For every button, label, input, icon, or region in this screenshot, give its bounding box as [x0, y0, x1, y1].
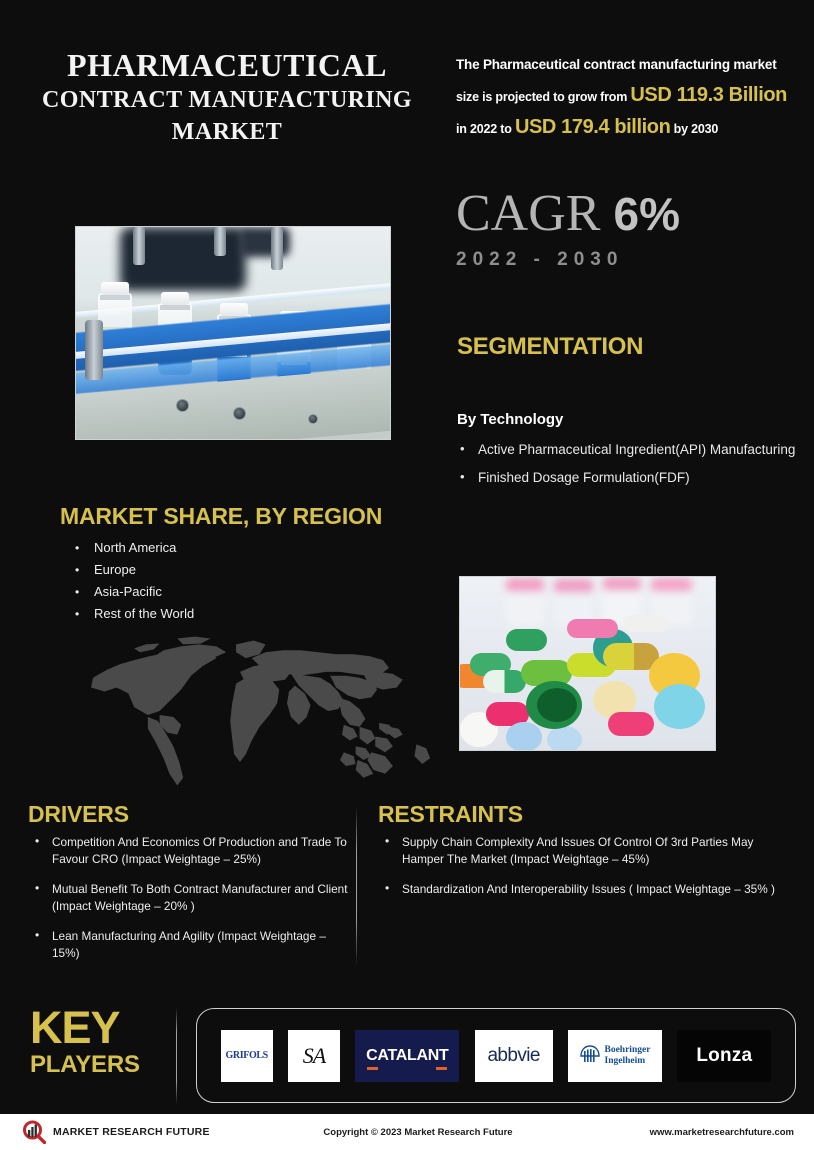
grifols-logo-text: GRIFOLS [226, 1050, 268, 1061]
abbvie-logo: abbvie [475, 1030, 553, 1082]
lonza-logo-text: Lonza [696, 1045, 752, 1067]
cagr-label: CAGR [456, 185, 600, 242]
abbvie-logo-text: abbvie [487, 1045, 539, 1067]
segmentation-subheading: By Technology [457, 411, 563, 428]
key-players-logo-box: GRIFOLS SA CATALANT abbvie Boehringer In… [196, 1008, 796, 1103]
drivers-heading: DRIVERS [28, 801, 129, 828]
footer-bar: MARKET RESEARCH FUTURE Copyright © 2023 … [0, 1114, 814, 1150]
highlight-line-3: in 2022 to USD 179.4 billion by 2030 [456, 112, 804, 144]
market-size-2022-value: USD 119.3 Billion [630, 84, 787, 106]
report-title-line1: PHARMACEUTICAL [34, 48, 420, 84]
report-title: PHARMACEUTICAL CONTRACT MANUFACTURING MA… [34, 48, 420, 149]
grifols-logo: GRIFOLS [221, 1030, 273, 1082]
footer-brand-text: MARKET RESEARCH FUTURE [53, 1126, 210, 1138]
list-item: Competition And Economics Of Production … [30, 834, 355, 867]
boehringer-arch-icon [580, 1045, 600, 1067]
key-players-title-line2: PLAYERS [30, 1051, 160, 1079]
report-title-line2: CONTRACT MANUFACTURING [34, 84, 420, 116]
infographic-canvas: PHARMACEUTICAL CONTRACT MANUFACTURING MA… [0, 0, 814, 1150]
lonza-logo: Lonza [677, 1030, 771, 1082]
world-map [44, 630, 436, 798]
sa-logo-text: SA [303, 1043, 325, 1069]
list-item: Supply Chain Complexity And Issues Of Co… [380, 834, 792, 867]
highlight-text-4: by 2030 [670, 122, 718, 136]
segmentation-heading: SEGMENTATION [457, 333, 643, 361]
highlight-text-2: size is projected to grow from [456, 90, 630, 104]
catalant-logo: CATALANT [355, 1030, 459, 1082]
cagr-value: 6% [613, 188, 679, 240]
restraints-list: Supply Chain Complexity And Issues Of Co… [380, 834, 792, 912]
highlight-line-1: The Pharmaceutical contract manufacturin… [456, 50, 804, 80]
list-item: North America [72, 537, 194, 559]
market-research-future-logo-icon [22, 1120, 46, 1144]
list-item: Finished Dosage Formulation(FDF) [457, 469, 797, 486]
report-title-line3: MARKET [34, 116, 420, 148]
cagr-block: CAGR 6% 2022 - 2030 [456, 188, 680, 271]
drivers-restraints-divider [356, 806, 357, 966]
highlight-text-3: in 2022 to [456, 122, 515, 136]
list-item: Active Pharmaceutical Ingredient(API) Ma… [457, 441, 797, 458]
footer-website[interactable]: www.marketresearchfuture.com [544, 1127, 794, 1138]
market-size-2030-value: USD 179.4 billion [515, 116, 670, 138]
key-players-title-line1: KEY [30, 1005, 160, 1051]
highlight-line-2: size is projected to grow from USD 119.3… [456, 80, 804, 112]
footer-copyright: Copyright © 2023 Market Research Future [292, 1127, 544, 1138]
footer-brand: MARKET RESEARCH FUTURE [22, 1120, 292, 1144]
cagr-headline: CAGR 6% [456, 188, 680, 240]
boehringer-logo-line2: Ingelheim [605, 1056, 646, 1066]
list-item: Asia-Pacific [72, 581, 194, 603]
list-item: Lean Manufacturing And Agility (Impact W… [30, 928, 355, 961]
boehringer-logo-line1: Boehringer [605, 1045, 651, 1055]
restraints-heading: RESTRAINTS [378, 801, 523, 828]
market-size-highlight: The Pharmaceutical contract manufacturin… [456, 50, 804, 144]
list-item: Europe [72, 559, 194, 581]
drivers-list: Competition And Economics Of Production … [30, 834, 355, 975]
boehringer-ingelheim-logo: Boehringer Ingelheim [568, 1030, 662, 1082]
list-item: Rest of the World [72, 603, 194, 625]
cagr-period: 2022 - 2030 [456, 249, 680, 271]
catalant-logo-text: CATALANT [366, 1047, 448, 1065]
market-share-region-list: North America Europe Asia-Pacific Rest o… [72, 537, 194, 625]
key-players-divider [176, 1008, 177, 1104]
segmentation-list: Active Pharmaceutical Ingredient(API) Ma… [457, 441, 797, 497]
highlight-text-1: The Pharmaceutical contract manufacturin… [456, 57, 777, 72]
pills-image [459, 576, 716, 751]
list-item: Mutual Benefit To Both Contract Manufact… [30, 881, 355, 914]
key-players-title: KEY PLAYERS [30, 1005, 160, 1079]
list-item: Standardization And Interoperability Iss… [380, 881, 792, 898]
market-share-heading: MARKET SHARE, BY REGION [60, 503, 382, 530]
boehringer-logo-text: Boehringer Ingelheim [605, 1045, 651, 1067]
vial-filling-line-image [75, 226, 391, 440]
sa-logo: SA [288, 1030, 340, 1082]
